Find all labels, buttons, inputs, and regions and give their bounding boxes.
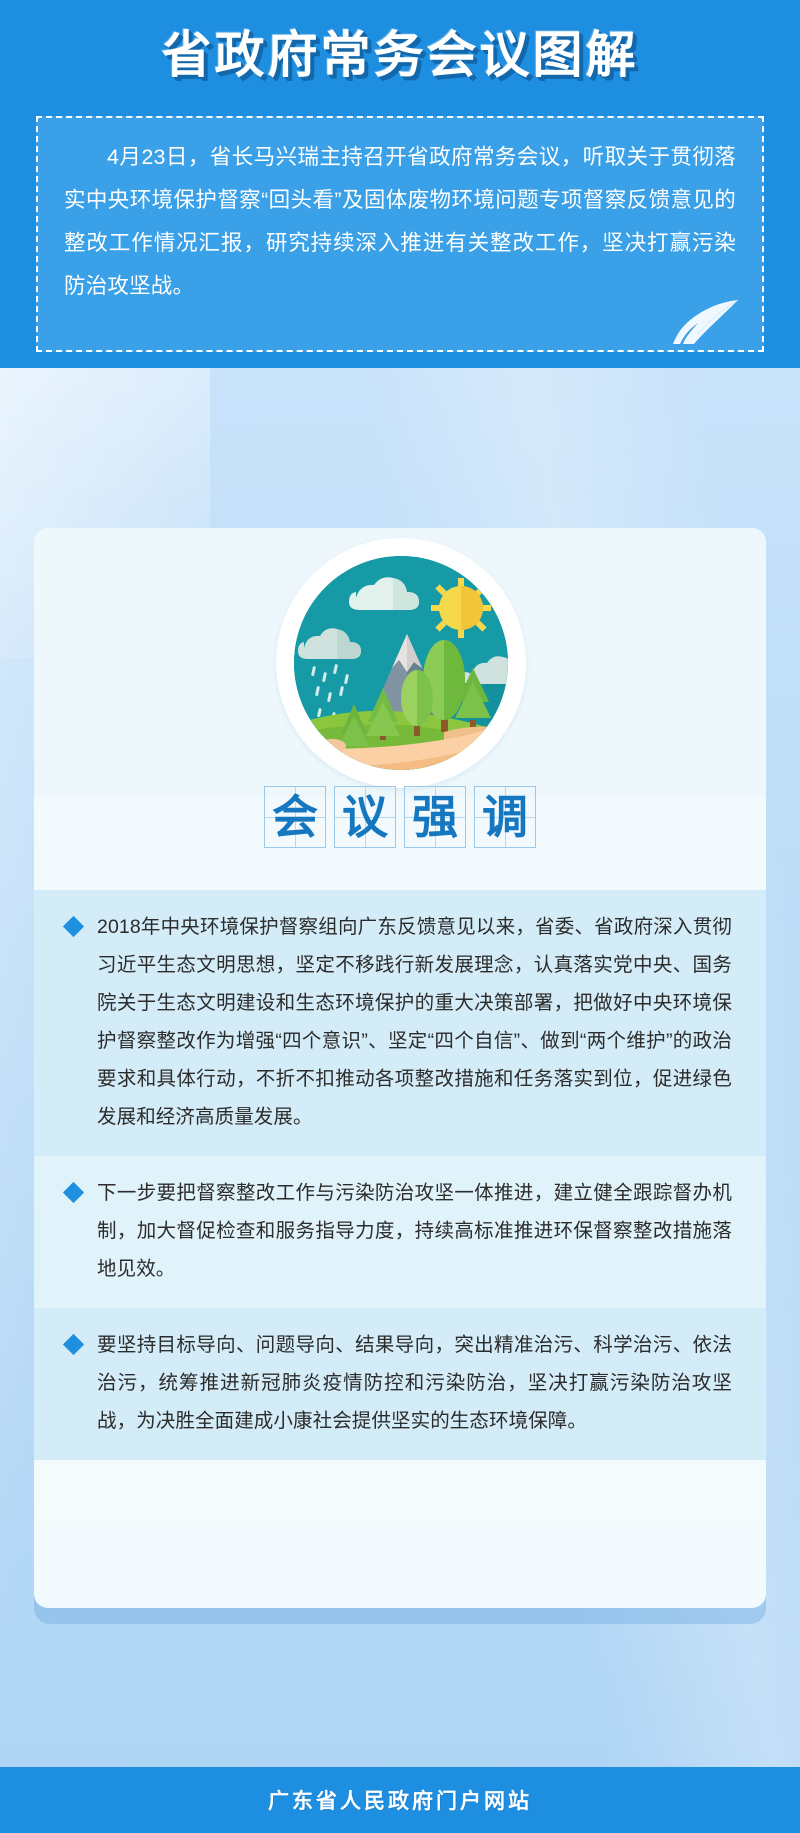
heading-char: 强	[412, 794, 458, 840]
heading-grid-cell: 议	[334, 786, 396, 848]
diamond-bullet-icon	[63, 1334, 84, 1355]
footer-bar: 广东省人民政府门户网站	[0, 1767, 800, 1833]
list-item: 2018年中央环境保护督察组向广东反馈意见以来，省委、省政府深入贯彻习近平生态文…	[64, 908, 732, 1136]
page-title: 省政府常务会议图解	[0, 24, 800, 86]
intro-box: 4月23日，省长马兴瑞主持召开省政府常务会议，听取关于贯彻落实中央环境保护督察“…	[36, 116, 764, 352]
list-item: 下一步要把督察整改工作与污染防治攻坚一体推进，建立健全跟踪督办机制，加大督促检查…	[64, 1174, 732, 1288]
heading-grid-cell: 调	[474, 786, 536, 848]
diamond-bullet-icon	[63, 1182, 84, 1203]
bullet-panel: 2018年中央环境保护督察组向广东反馈意见以来，省委、省政府深入贯彻习近平生态文…	[34, 890, 766, 1156]
infographic-page: 省政府常务会议图解 4月23日，省长马兴瑞主持召开省政府常务会议，听取关于贯彻落…	[0, 0, 800, 1833]
heading-char: 议	[342, 794, 388, 840]
heading-grid-cell: 会	[264, 786, 326, 848]
heading-char: 调	[482, 794, 528, 840]
bullet-panel: 下一步要把督察整改工作与污染防治攻坚一体推进，建立健全跟踪督办机制，加大督促检查…	[34, 1156, 766, 1308]
card-bottom-padding	[34, 1460, 766, 1524]
heading-char: 会	[272, 794, 318, 840]
eco-hand-nature-icon	[276, 538, 526, 788]
bullet-text: 要坚持目标导向、问题导向、结果导向，突出精准治污、科学治污、依法治污，统筹推进新…	[97, 1326, 732, 1440]
bullet-list: 2018年中央环境保护督察组向广东反馈意见以来，省委、省政府深入贯彻习近平生态文…	[34, 890, 766, 1524]
bullet-text: 2018年中央环境保护督察组向广东反馈意见以来，省委、省政府深入贯彻习近平生态文…	[97, 908, 732, 1136]
illustration-scene	[294, 556, 508, 770]
bullet-panel: 要坚持目标导向、问题导向、结果导向，突出精准治污、科学治污、依法治污，统筹推进新…	[34, 1308, 766, 1460]
header-banner: 省政府常务会议图解 4月23日，省长马兴瑞主持召开省政府常务会议，听取关于贯彻落…	[0, 0, 800, 368]
intro-paragraph: 4月23日，省长马兴瑞主持召开省政府常务会议，听取关于贯彻落实中央环境保护督察“…	[64, 136, 736, 308]
footer-site-name: 广东省人民政府门户网站	[268, 1785, 532, 1815]
body-area: 会 议 强 调 2018年中央环境保护督察组向广东反馈意见以来，省委、省政府深	[0, 368, 800, 1767]
content-card: 会 议 强 调 2018年中央环境保护督察组向广东反馈意见以来，省委、省政府深	[34, 528, 766, 1608]
section-heading: 会 议 强 调	[34, 786, 766, 848]
heading-grid-cell: 强	[404, 786, 466, 848]
bullet-text: 下一步要把督察整改工作与污染防治攻坚一体推进，建立健全跟踪督办机制，加大督促检查…	[97, 1174, 732, 1288]
list-item: 要坚持目标导向、问题导向、结果导向，突出精准治污、科学治污、依法治污，统筹推进新…	[64, 1326, 732, 1440]
diamond-bullet-icon	[63, 916, 84, 937]
